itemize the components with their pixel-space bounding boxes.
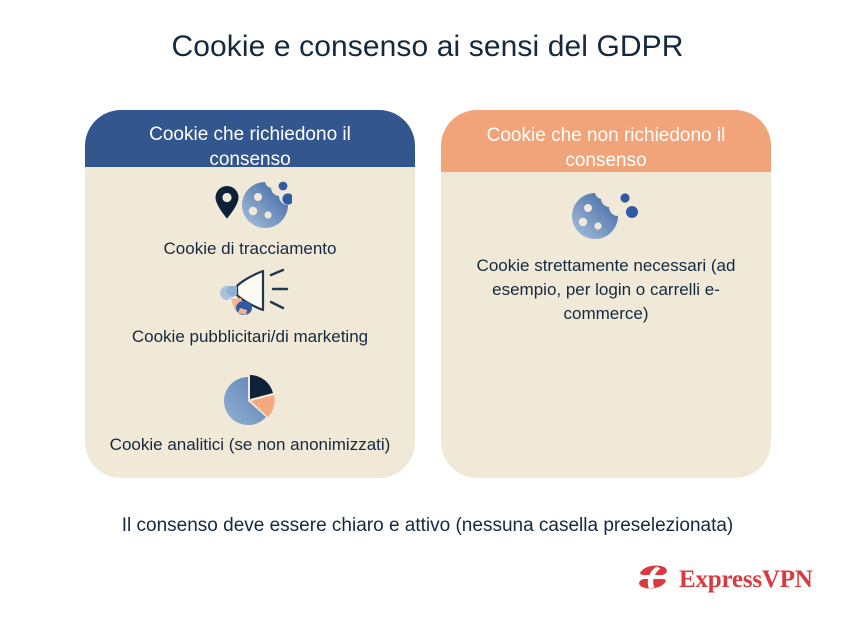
- list-item-label: Cookie pubblicitari/di marketing: [85, 326, 415, 348]
- list-item: Cookie analitici (se non anonimizzati): [85, 375, 415, 456]
- list-item-label: Cookie analitici (se non anonimizzati): [85, 434, 415, 456]
- card-consent-required: Cookie che richiedono il consenso: [85, 110, 415, 478]
- expressvpn-logo: ExpressVPN: [636, 563, 813, 596]
- footer-note: Il consenso deve essere chiaro e attivo …: [0, 514, 855, 538]
- pie-chart-icon: [85, 375, 415, 427]
- list-item: Cookie di tracciamento: [85, 179, 415, 260]
- list-item-label: Cookie strettamente necessari (ad esempi…: [441, 254, 771, 326]
- card-body-consent-not-required: Cookie strettamente necessari (ad esempi…: [441, 172, 771, 478]
- page-title: Cookie e consenso ai sensi del GDPR: [0, 29, 855, 65]
- card-header-consent-required: Cookie che richiedono il consenso: [85, 110, 415, 167]
- card-body-consent-required: Cookie di tracciamento: [85, 167, 415, 478]
- cookie-location-pin-icon: [85, 179, 415, 231]
- cards-container: Cookie che richiedono il consenso: [85, 110, 771, 478]
- list-item-label: Cookie di tracciamento: [85, 238, 415, 260]
- card-header-consent-not-required: Cookie che non richiedono il consenso: [441, 110, 771, 172]
- expressvpn-e-mark-icon: [636, 563, 670, 596]
- megaphone-icon: [85, 267, 415, 319]
- cookie-icon: [441, 190, 771, 242]
- expressvpn-wordmark: ExpressVPN: [679, 566, 813, 594]
- card-consent-not-required: Cookie che non richiedono il consenso: [441, 110, 771, 478]
- list-item: Cookie pubblicitari/di marketing: [85, 267, 415, 348]
- list-item: Cookie strettamente necessari (ad esempi…: [441, 190, 771, 326]
